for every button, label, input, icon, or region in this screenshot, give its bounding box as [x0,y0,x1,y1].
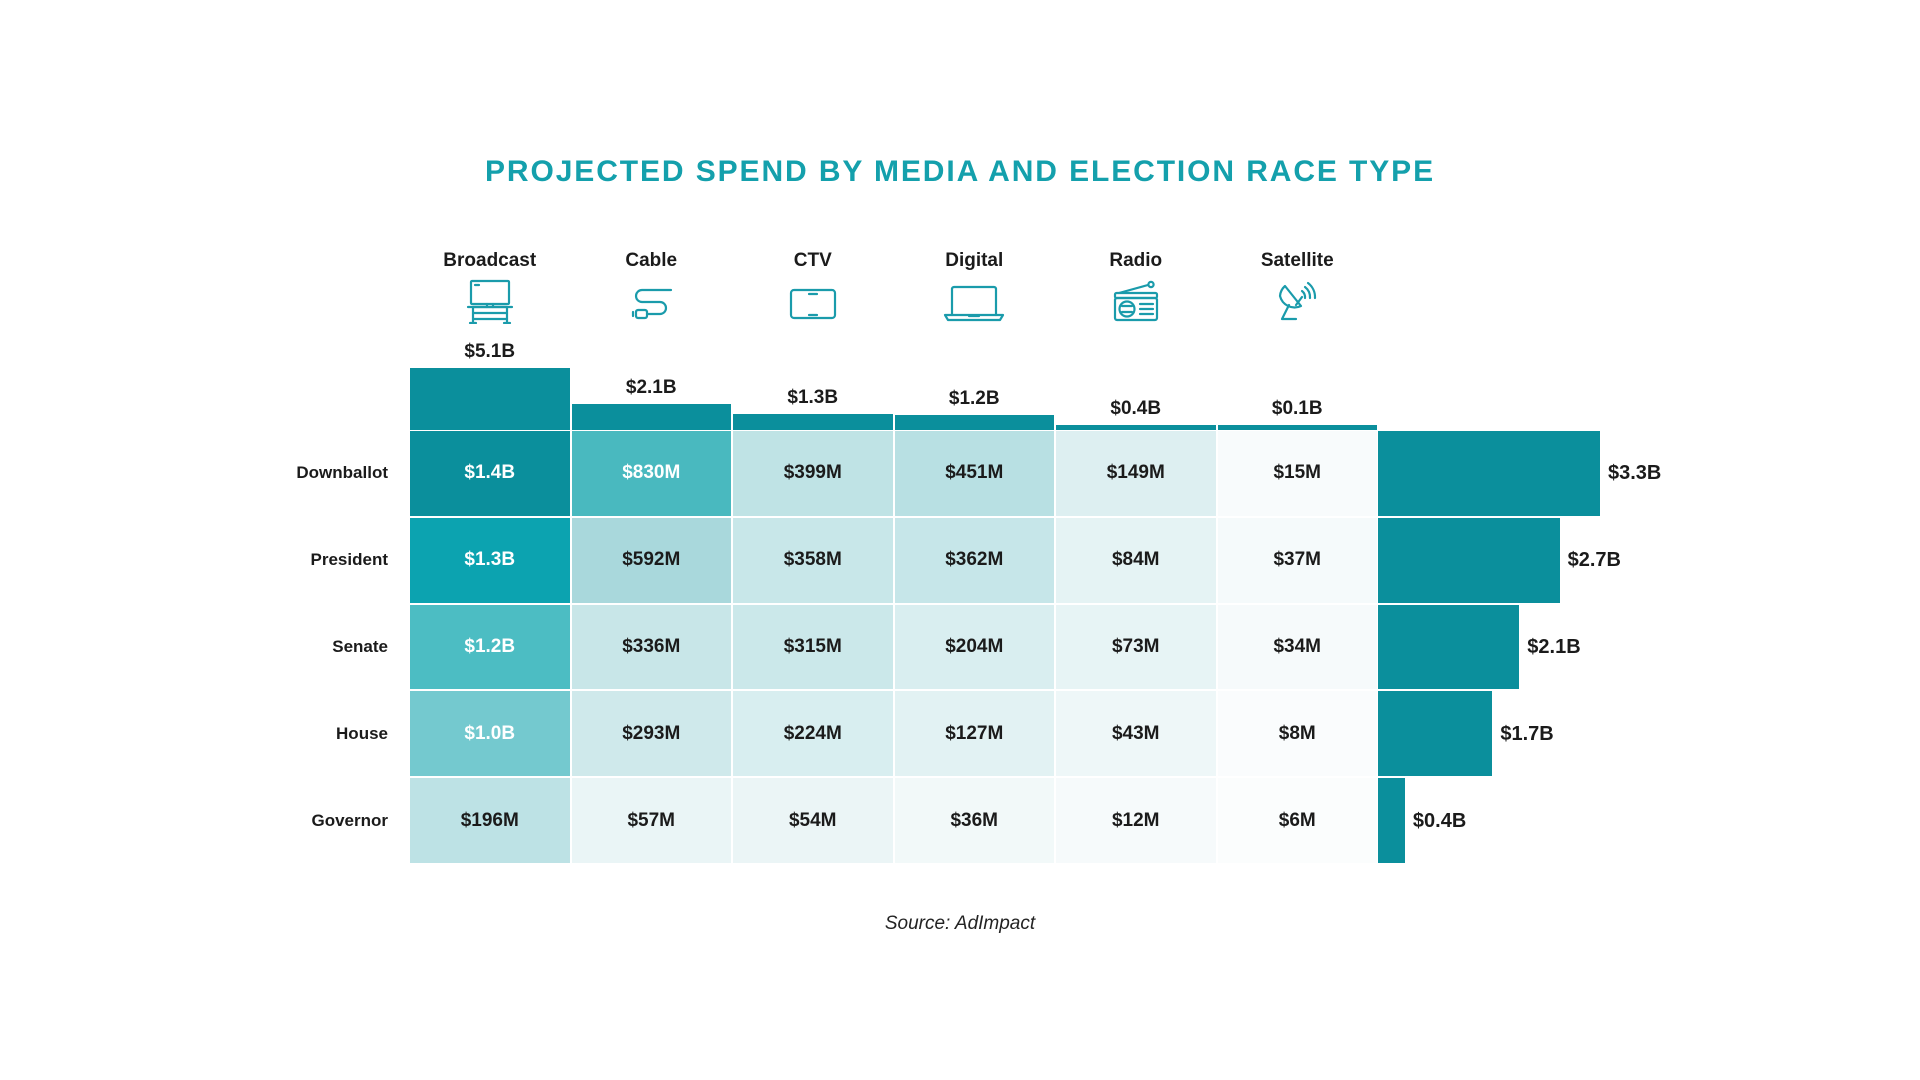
row-total-bar-president [1378,517,1560,604]
heatmap-cell: $12M [1055,777,1217,864]
column-total-label-ctv: $1.3B [732,387,894,409]
heatmap-cell: $1.4B [409,430,571,517]
row-total-bar-governor [1378,777,1405,864]
satellite-dish-icon [1217,278,1379,324]
column-total-bar-digital [895,415,1055,430]
heatmap-cell: $34M [1217,604,1379,691]
heatmap-cell: $1.0B [409,690,571,777]
laptop-icon [894,278,1056,324]
heatmap-cell: $8M [1217,690,1379,777]
heatmap-cell: $37M [1217,517,1379,604]
heatmap-cell: $1.3B [409,517,571,604]
column-total-label-satellite: $0.1B [1217,398,1379,420]
row-total-bar-senate [1378,604,1519,691]
column-header-radio: Radio [1055,250,1217,272]
heatmap-cell: $224M [732,690,894,777]
heatmap-cell: $830M [571,430,733,517]
column-total-bar-cable [572,404,732,430]
heatmap-cell: $293M [571,690,733,777]
tv-stand-icon [409,278,571,324]
column-total-label-broadcast: $5.1B [409,341,571,363]
coax-cable-icon [571,278,733,324]
column-header-broadcast: Broadcast [409,250,571,272]
row-total-bar-downballot [1378,430,1600,517]
heatmap-cell: $204M [894,604,1056,691]
heatmap-cell: $6M [1217,777,1379,864]
chart-canvas: PROJECTED SPEND BY MEDIA AND ELECTION RA… [0,0,1920,1080]
source-note: Source: AdImpact [0,913,1920,935]
heatmap-cell: $362M [894,517,1056,604]
heatmap-cell: $84M [1055,517,1217,604]
row-total-label-senate: $2.1B [1527,635,1580,659]
column-total-label-cable: $2.1B [571,377,733,399]
row-label-downballot: Downballot [296,461,388,485]
row-total-label-downballot: $3.3B [1608,461,1661,485]
heatmap-cell: $451M [894,430,1056,517]
row-label-house: House [336,722,388,746]
column-total-bar-broadcast [410,368,570,430]
heatmap-cell: $127M [894,690,1056,777]
page-title: PROJECTED SPEND BY MEDIA AND ELECTION RA… [0,155,1920,189]
row-label-president: President [311,548,388,572]
heatmap-cell: $336M [571,604,733,691]
heatmap-cell: $36M [894,777,1056,864]
heatmap-cell: $315M [732,604,894,691]
heatmap-cell: $54M [732,777,894,864]
heatmap-cell: $15M [1217,430,1379,517]
row-total-label-house: $1.7B [1500,722,1553,746]
row-total-label-governor: $0.4B [1413,809,1466,833]
heatmap-cell: $592M [571,517,733,604]
heatmap-cell: $73M [1055,604,1217,691]
column-total-bar-ctv [733,414,893,430]
heatmap-cell: $57M [571,777,733,864]
column-total-label-digital: $1.2B [894,388,1056,410]
row-label-governor: Governor [311,809,388,833]
heatmap-cell: $196M [409,777,571,864]
heatmap-cell: $149M [1055,430,1217,517]
row-label-senate: Senate [332,635,388,659]
heatmap-cell: $1.2B [409,604,571,691]
tablet-screen-icon [732,278,894,324]
heatmap-cell: $358M [732,517,894,604]
column-header-ctv: CTV [732,250,894,272]
column-header-satellite: Satellite [1217,250,1379,272]
column-header-cable: Cable [571,250,733,272]
row-total-bar-house [1378,690,1492,777]
row-total-label-president: $2.7B [1568,548,1621,572]
heatmap-cell: $43M [1055,690,1217,777]
column-total-label-radio: $0.4B [1055,398,1217,420]
heatmap-cell: $399M [732,430,894,517]
radio-icon [1055,278,1217,324]
column-header-digital: Digital [894,250,1056,272]
